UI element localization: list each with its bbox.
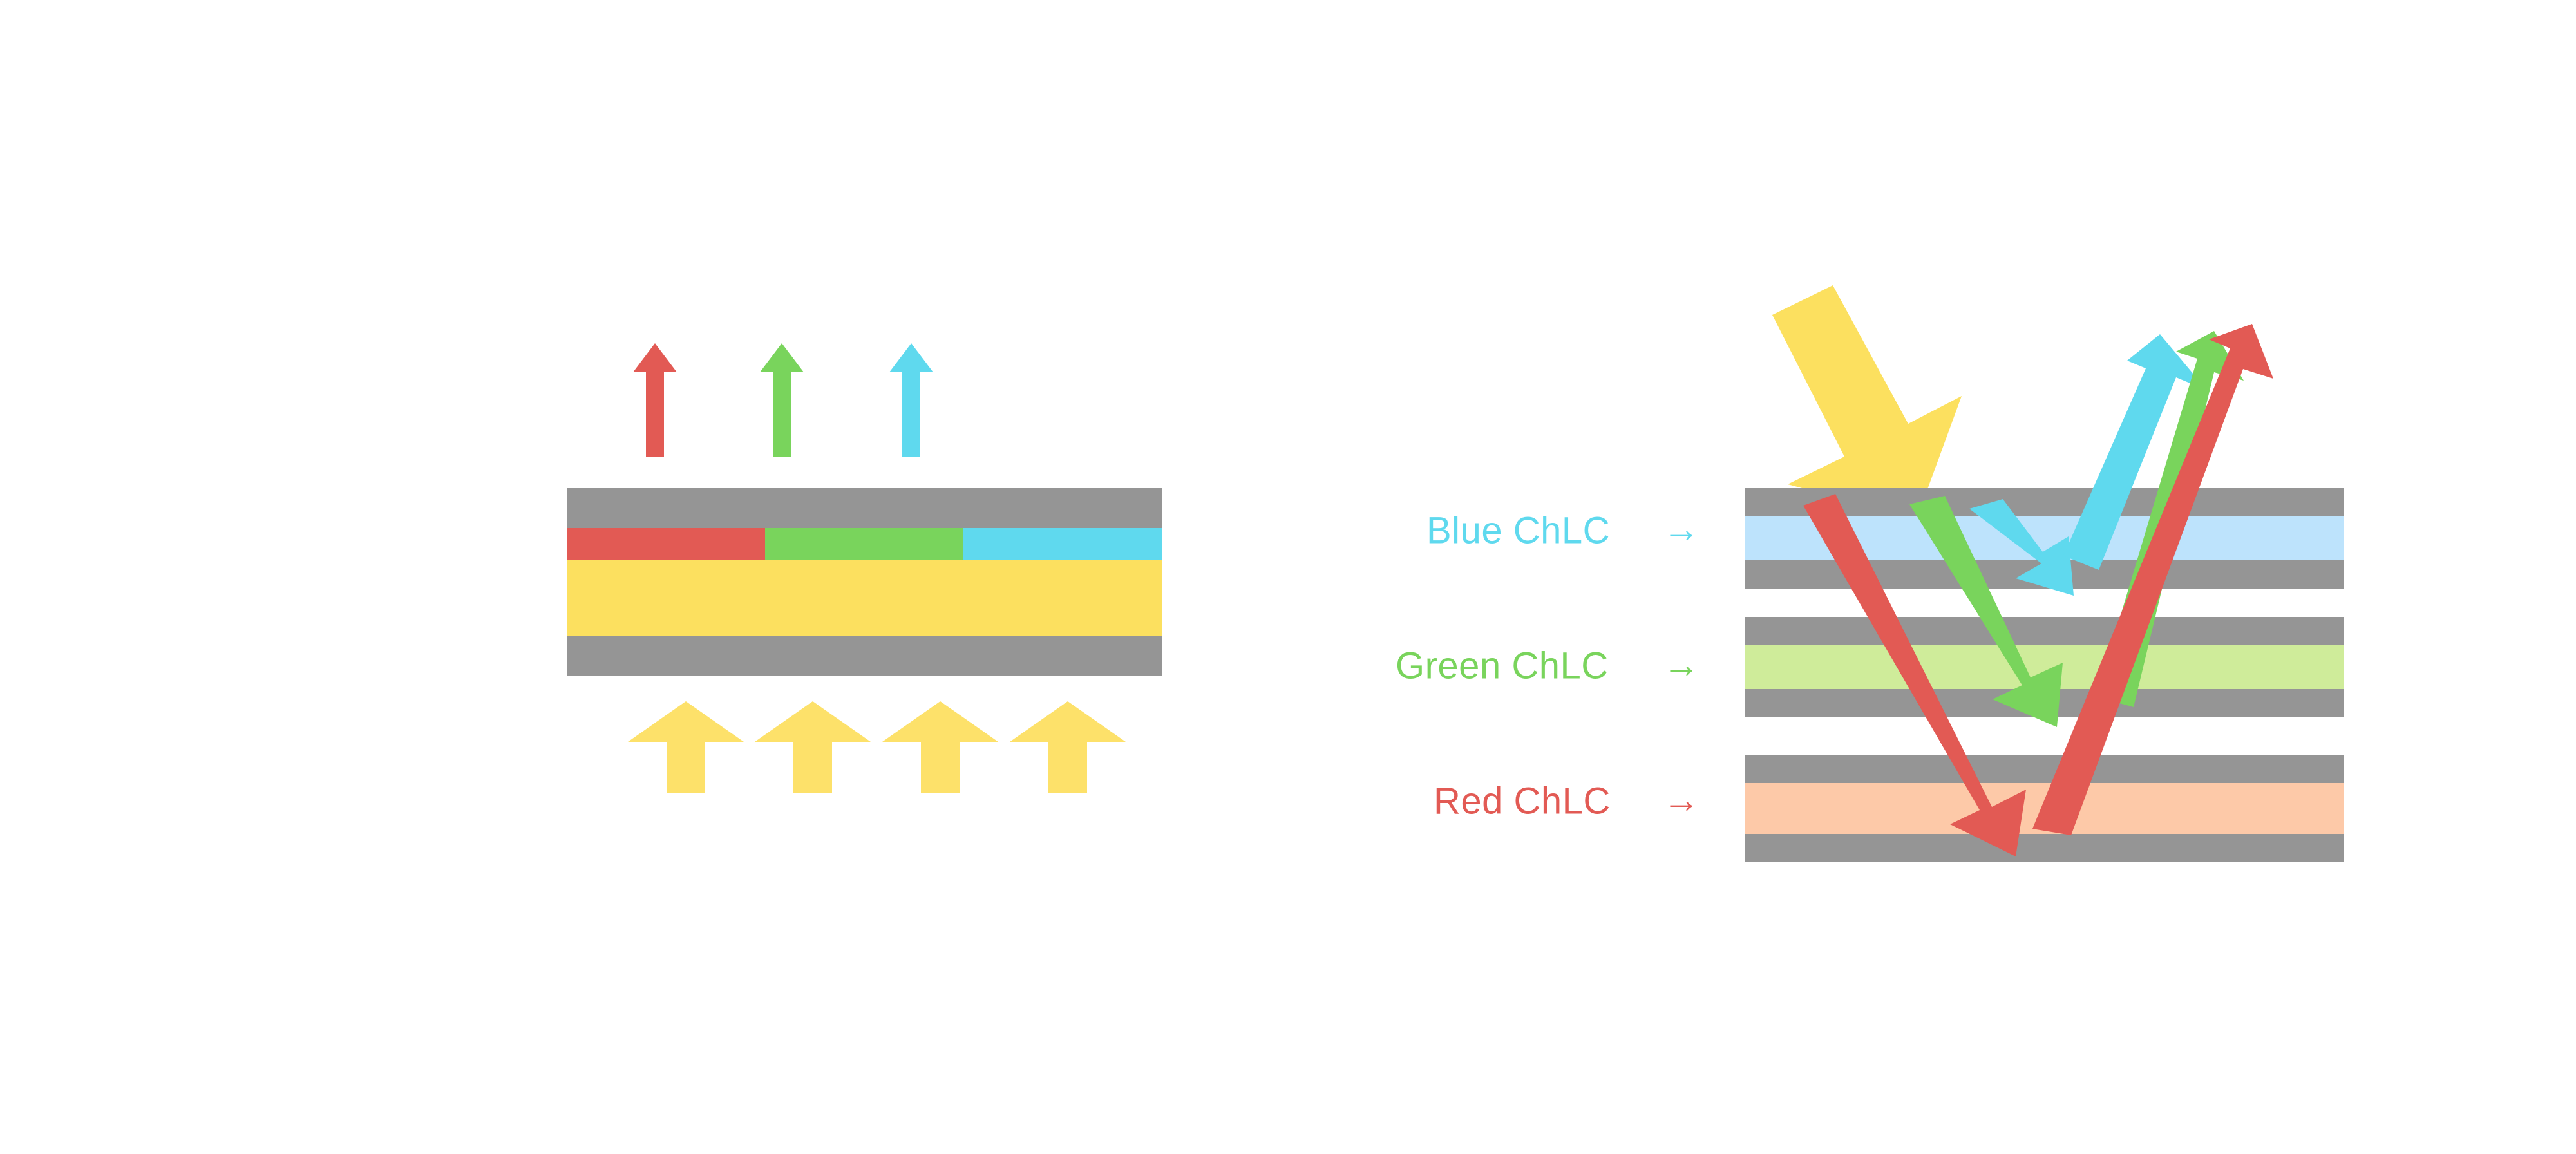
left-stack [567, 488, 1162, 676]
green-top-electrode [1745, 617, 2344, 645]
red-top-electrode [1745, 755, 2344, 783]
red-chlc-label: Red ChLC [1434, 780, 1611, 822]
blue-chlc-label: Blue ChLC [1426, 509, 1610, 551]
diagram-root: Blue ChLC → Green ChLC → Red ChLC → [0, 0, 2576, 1154]
red-chlc-label-arrow: → [1663, 779, 1701, 820]
top-electrode-layer [567, 488, 1162, 528]
blue-filter-segment [963, 528, 1162, 560]
green-chlc-label-arrow: → [1663, 643, 1701, 685]
red-bottom-electrode [1745, 834, 2344, 862]
red-filter-segment [567, 528, 765, 560]
chlc-diagram-svg: Blue ChLC → Green ChLC → Red ChLC → [0, 0, 2576, 1154]
bottom-electrode-layer [567, 636, 1162, 676]
blue-chlc-label-arrow: → [1663, 508, 1701, 550]
green-filter-segment [765, 528, 963, 560]
backlight-layer [567, 560, 1162, 636]
gap-2 [1745, 717, 2344, 755]
gap-1 [1745, 589, 2344, 617]
green-chlc-label: Green ChLC [1396, 645, 1609, 686]
